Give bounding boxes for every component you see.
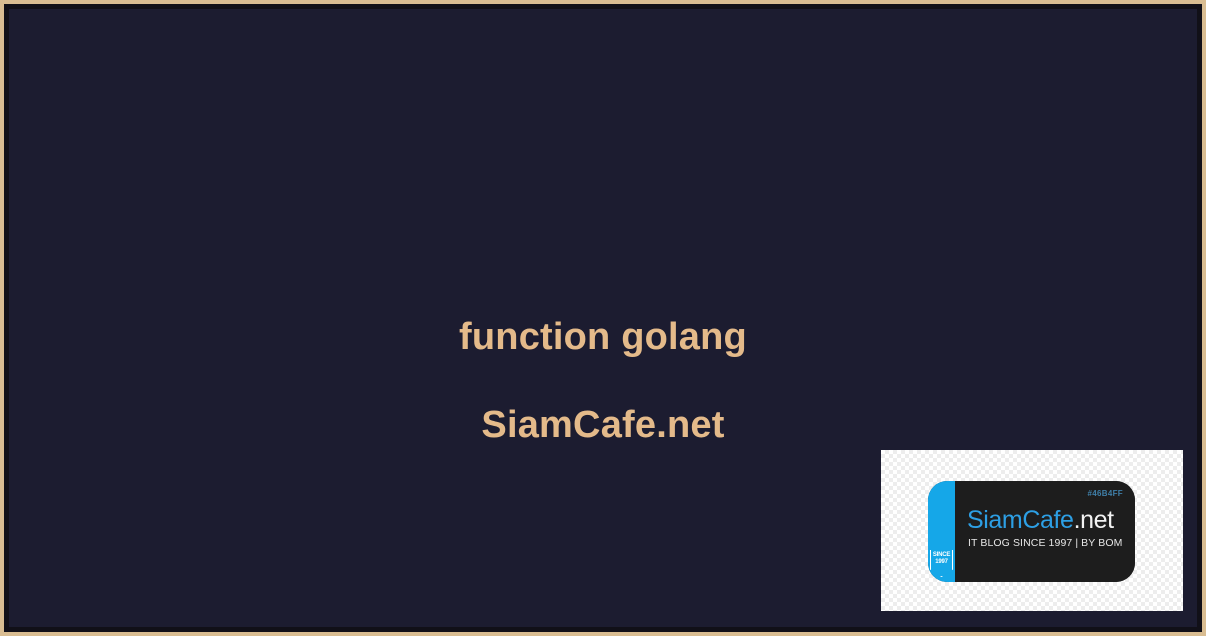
page-title-line1: function golang — [9, 315, 1197, 359]
logo-wordmark-tld: .net — [1074, 506, 1114, 534]
logo-tagline: IT BLOG SINCE 1997 | BY BOM — [968, 537, 1122, 549]
logo-wordmark-brand: SiamCafe — [967, 506, 1074, 534]
badge-label-year: 1997 — [935, 559, 948, 566]
badge-label-since: SINCE — [933, 552, 950, 559]
logo-wordmark: SiamCafe.net — [967, 507, 1114, 534]
since-1997-badge-icon: SINCE 1997 — [930, 550, 953, 577]
page-title-line2: SiamCafe.net — [9, 403, 1197, 447]
logo-image-card[interactable]: SINCE 1997 #46B4FF SiamCafe.net IT BLOG … — [881, 450, 1183, 611]
logo-blue-stripe: SINCE 1997 — [928, 481, 955, 582]
page-canvas: function golang SiamCafe.net SINCE 1997 … — [9, 9, 1197, 627]
hex-color-label: #46B4FF — [1088, 489, 1123, 498]
logo-body: #46B4FF SiamCafe.net IT BLOG SINCE 1997 … — [955, 481, 1135, 582]
siamcafe-logo[interactable]: SINCE 1997 #46B4FF SiamCafe.net IT BLOG … — [928, 481, 1135, 582]
screenshot-frame: function golang SiamCafe.net SINCE 1997 … — [0, 0, 1206, 636]
